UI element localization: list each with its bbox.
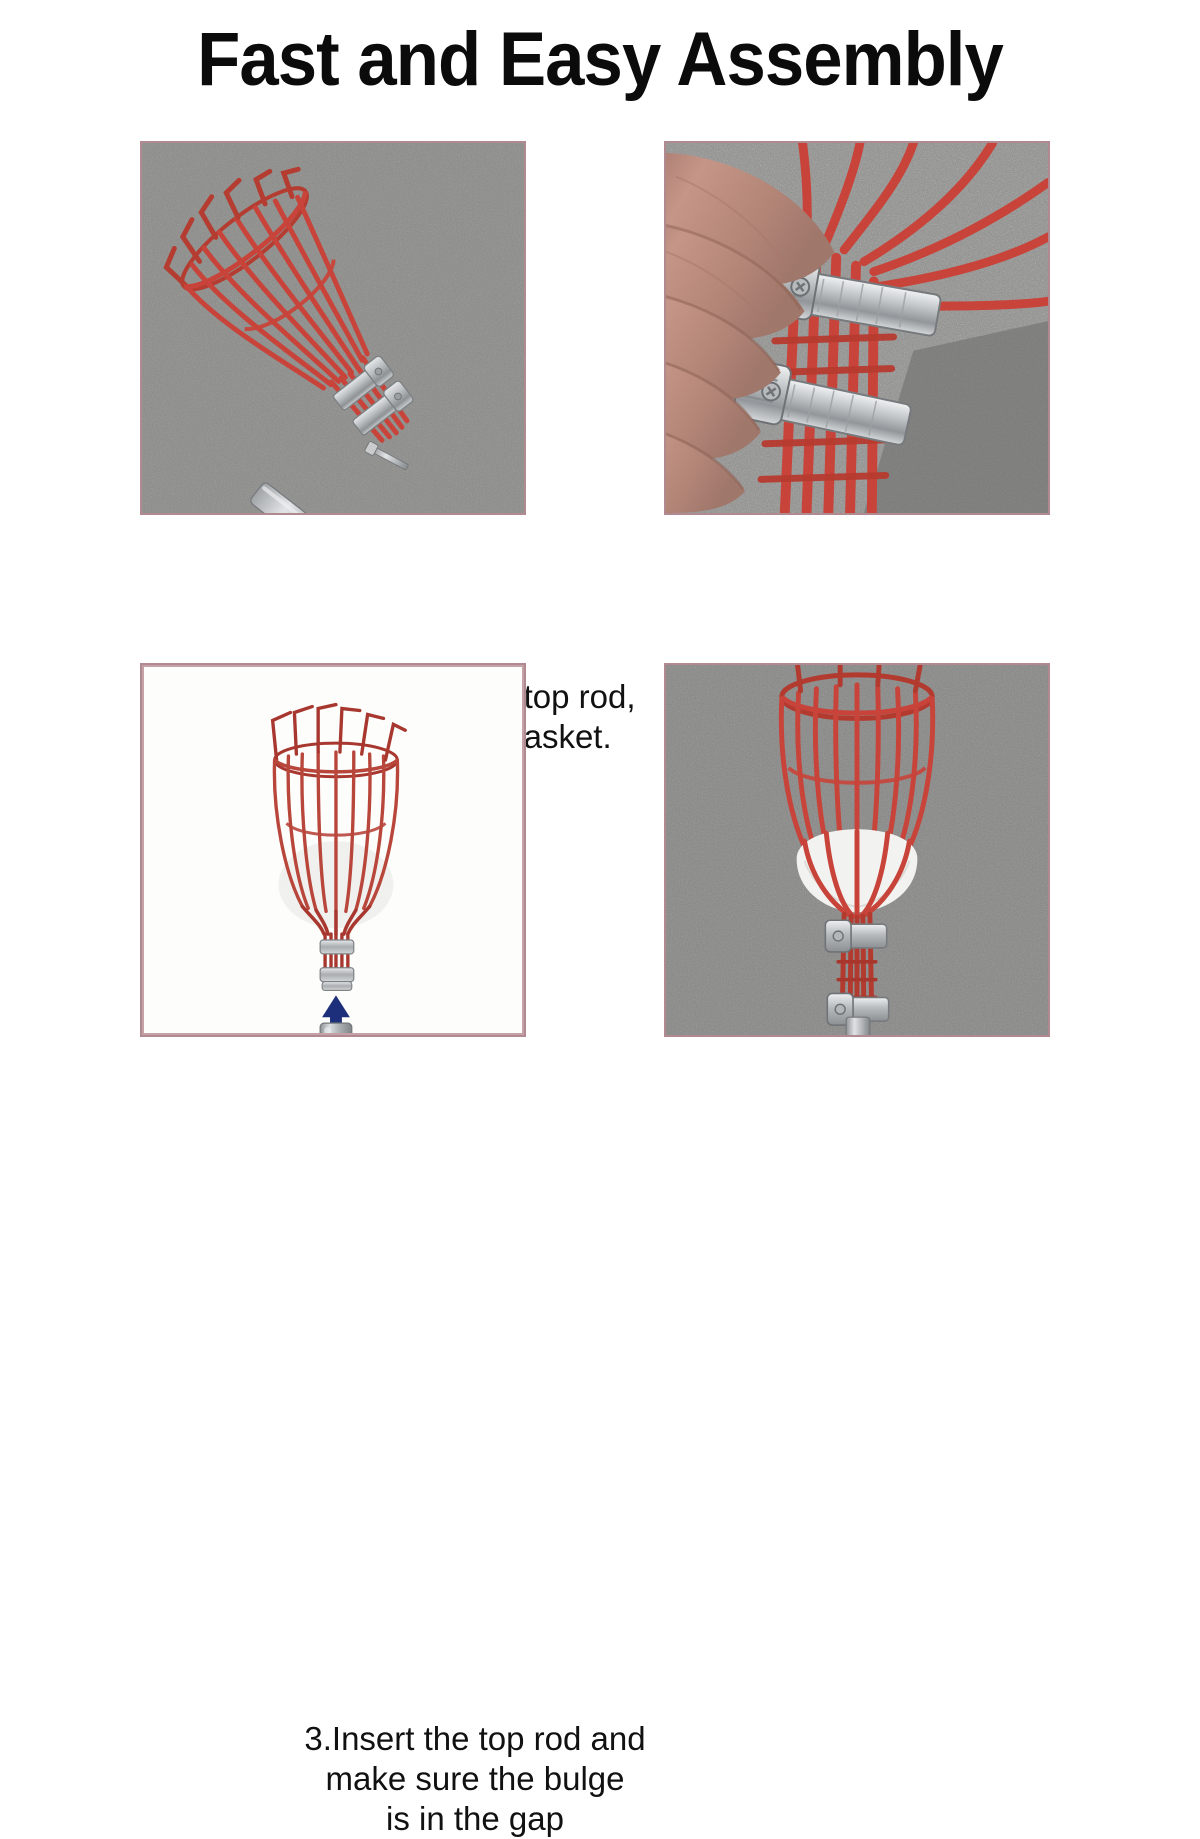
step-1-cell: 1.Prepare the top rod, screw, and basket… <box>140 141 526 515</box>
step-4-cell: 4.Tighten the screws <box>664 663 1050 1037</box>
step-3-cell: 3.Insert the top rod and make sure the b… <box>140 663 526 1037</box>
photo-step-2-loosening-screws <box>664 141 1050 515</box>
step-2-cell: 2.Loose the screws on the basket with th… <box>664 141 1050 515</box>
step-3-caption: 3.Insert the top rod and make sure the b… <box>250 1719 700 1839</box>
steps-grid: 1.Prepare the top rod, screw, and basket… <box>0 0 1200 1200</box>
photo-step-1-parts-laid-out <box>140 141 526 515</box>
photo-step-4-tighten-screws <box>664 663 1050 1037</box>
photo-step-3-insert-rod <box>140 663 526 1037</box>
assembly-instruction-sheet: Fast and Easy Assembly <box>0 0 1200 1200</box>
